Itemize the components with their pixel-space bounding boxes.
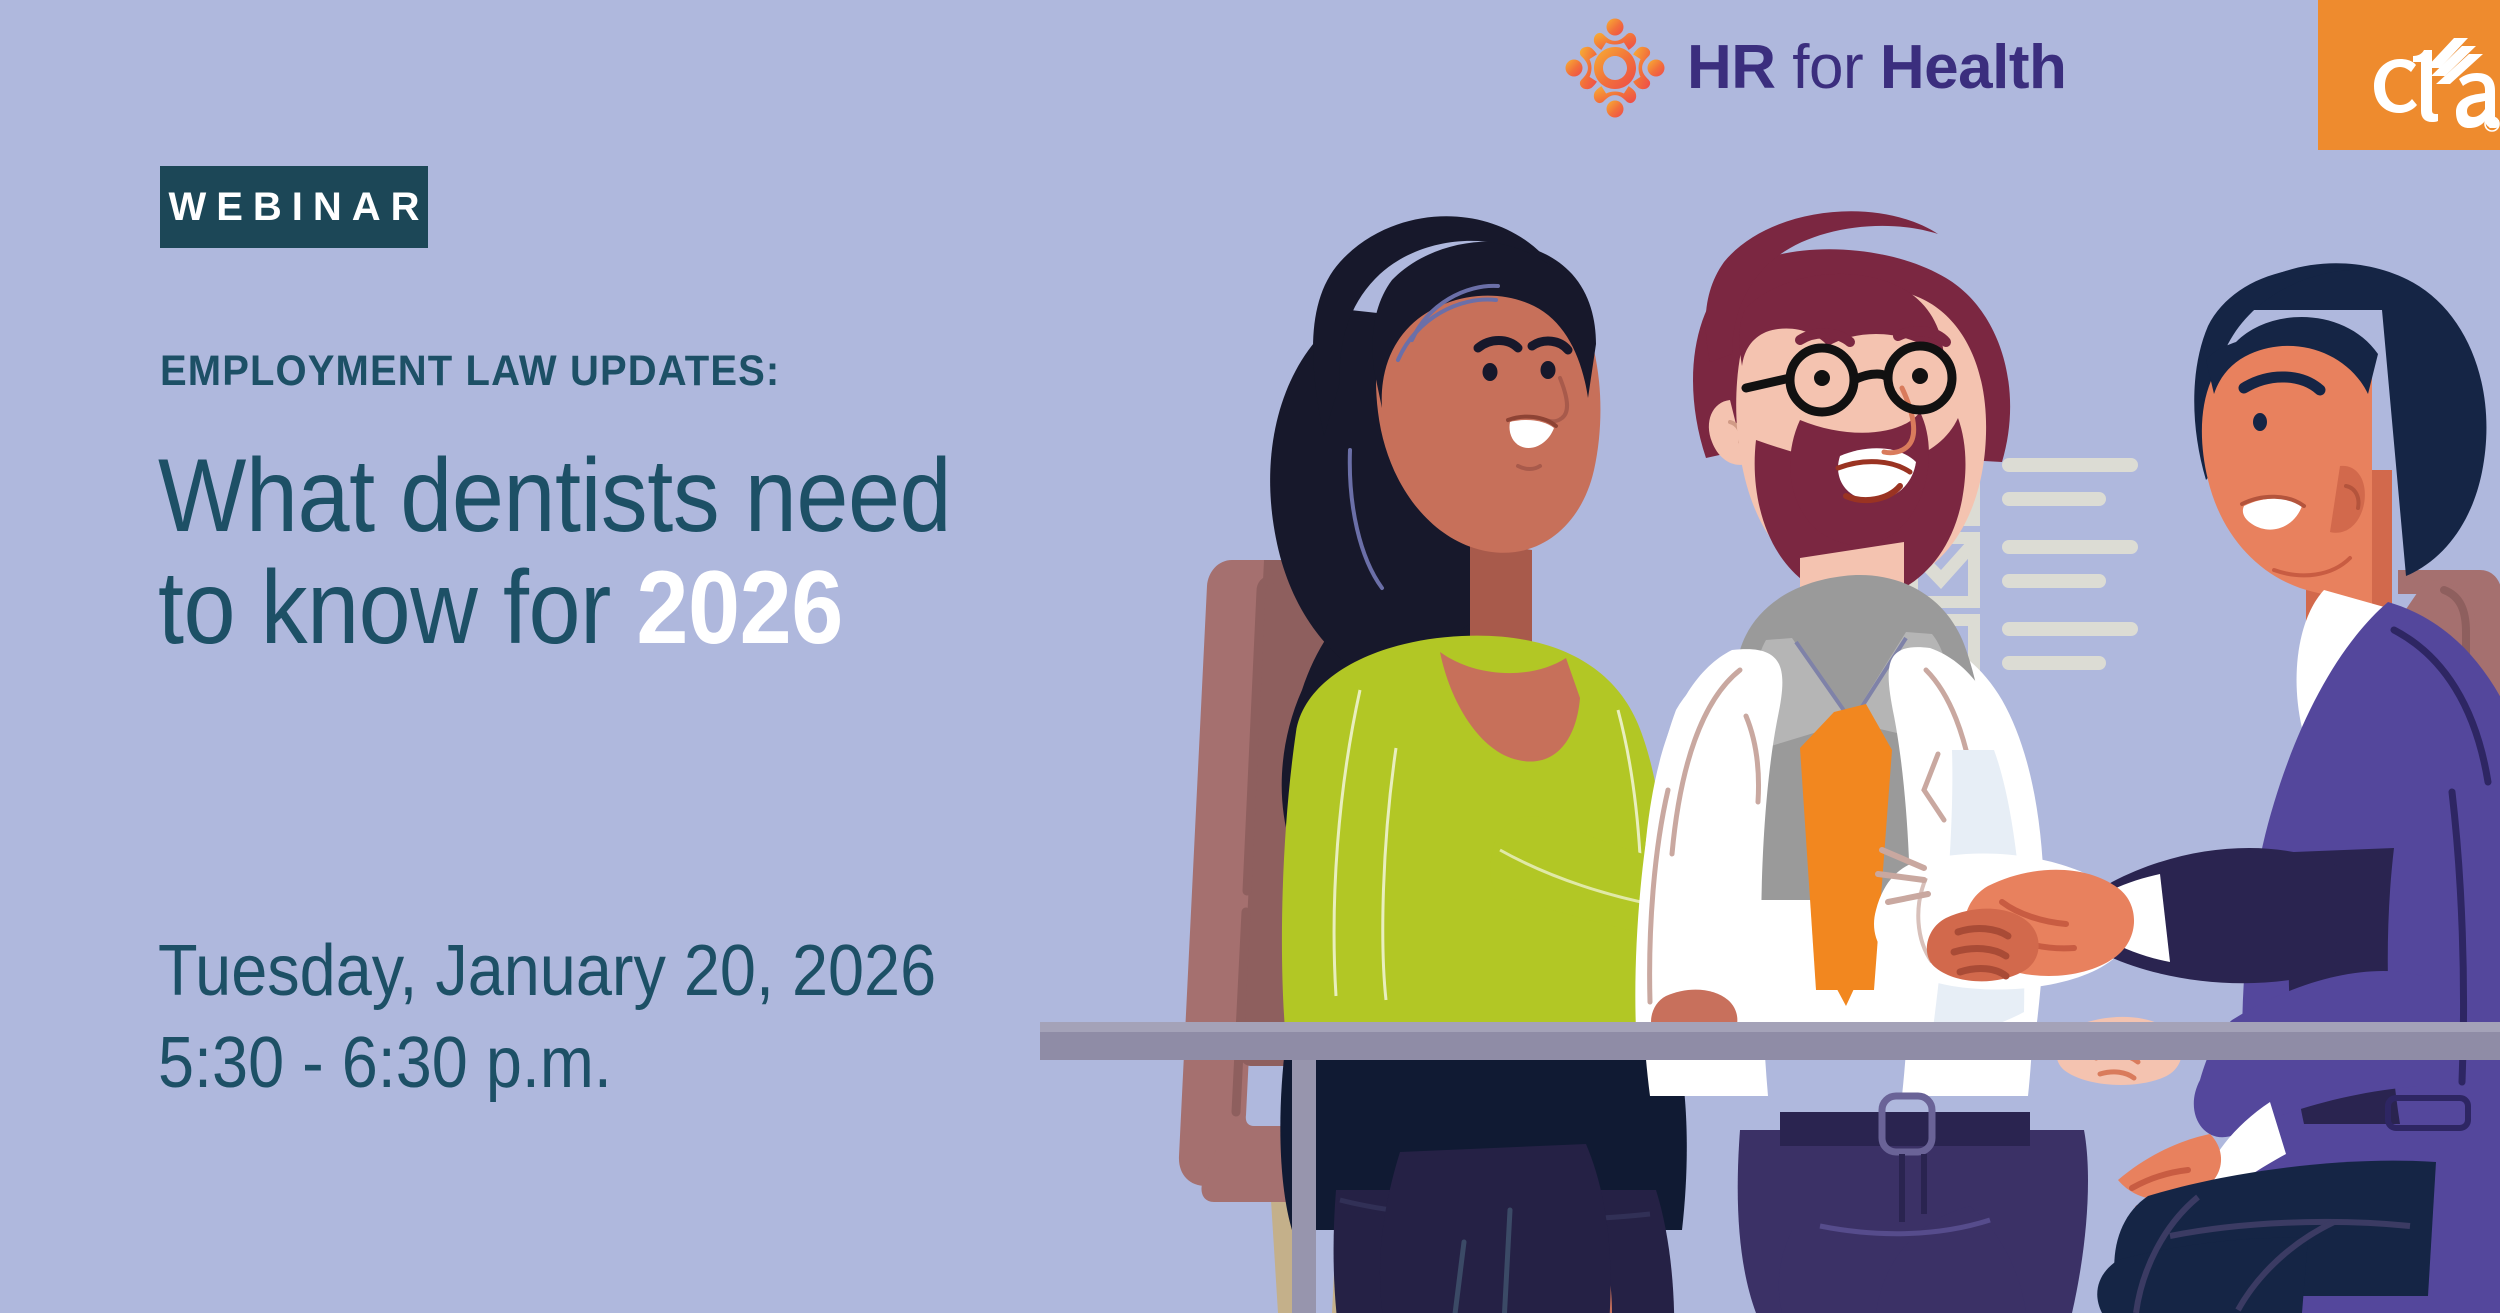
svg-text:R: R: [2489, 121, 2496, 131]
schedule-block: Tuesday, January 20, 2026 5:30 - 6:30 p.…: [158, 925, 968, 1109]
brand-bar: HR for Health: [0, 0, 2500, 160]
hr-for-health-wordmark: HR for Health: [1687, 37, 2066, 99]
eyebrow-text: EMPLOYMENT LAW UPDATES:: [160, 350, 780, 393]
headline-line-2-prefix: to know for: [158, 550, 636, 666]
cda-logo: R: [2318, 0, 2500, 155]
headline-line-1: What dentists need: [158, 440, 1058, 552]
webinar-badge: WEBINAR: [160, 166, 428, 248]
cda-logo-box: R: [2318, 0, 2500, 155]
webinar-promo-canvas: HR for Health: [0, 0, 2500, 1313]
hrfh-word-hr: HR: [1687, 33, 1776, 102]
page-title: What dentists need to know for 2026: [158, 440, 1058, 665]
hr-for-health-logo: HR for Health: [1565, 18, 2066, 118]
hrfh-word-for: for: [1792, 33, 1863, 102]
headline-line-2: to know for 2026: [158, 552, 1058, 664]
people-circle-icon: [1565, 18, 1665, 118]
headline-year: 2026: [636, 550, 842, 666]
schedule-date: Tuesday, January 20, 2026: [158, 925, 968, 1017]
hrfh-word-health: Health: [1880, 33, 2066, 102]
schedule-time: 5:30 - 6:30 p.m.: [158, 1017, 968, 1109]
dental-office-handshake-illustration: [1040, 150, 2500, 1313]
webinar-badge-label: WEBINAR: [158, 187, 429, 227]
